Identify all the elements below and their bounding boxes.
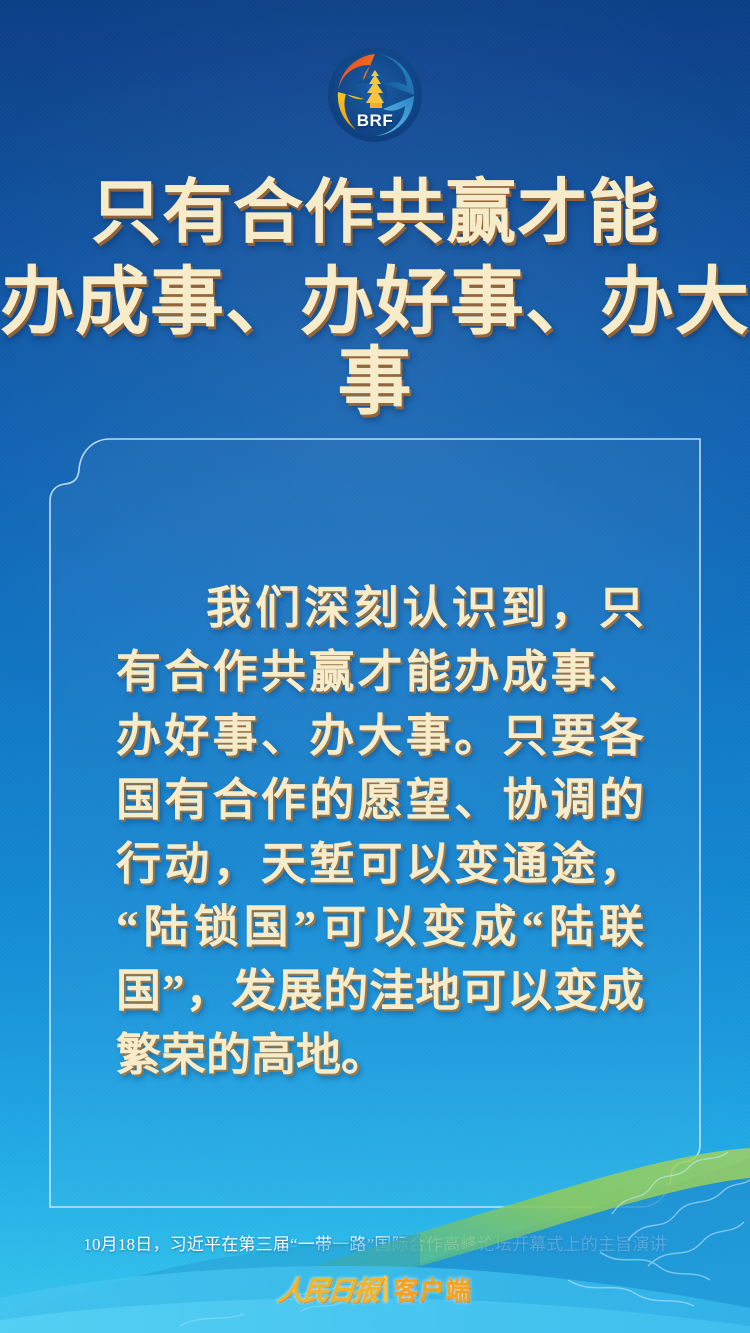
footer-logo-separator <box>384 1276 387 1302</box>
brf-logo-text: BRF <box>326 111 424 131</box>
page-title-line-1: 只有合作共赢才能 <box>0 176 750 252</box>
quote-text: 我们深刻认识到，只有合作共赢才能办成事、办好事、办大事。只要各国有合作的愿望、协… <box>116 577 644 1088</box>
poster-root: BRF 只有合作共赢才能 办成事、办好事、办大事 我们深刻认识到，只有合作共赢才… <box>0 0 750 1333</box>
page-title: 只有合作共赢才能 办成事、办好事、办大事 <box>0 176 750 423</box>
page-title-line-2: 办成事、办好事、办大事 <box>0 264 750 424</box>
footer-logo-box: 人民日报 客户端 <box>272 1266 477 1311</box>
peoples-daily-app-text: 客户端 <box>393 1271 471 1307</box>
quote-card: 我们深刻认识到，只有合作共赢才能办成事、办好事、办大事。只要各国有合作的愿望、协… <box>48 437 702 1209</box>
footer-logo[interactable]: 人民日报 客户端 <box>0 1266 750 1311</box>
emblem-container: BRF <box>0 46 750 144</box>
brf-logo-icon: BRF <box>326 46 424 144</box>
peoples-daily-brand-text: 人民日报 <box>276 1269 380 1308</box>
